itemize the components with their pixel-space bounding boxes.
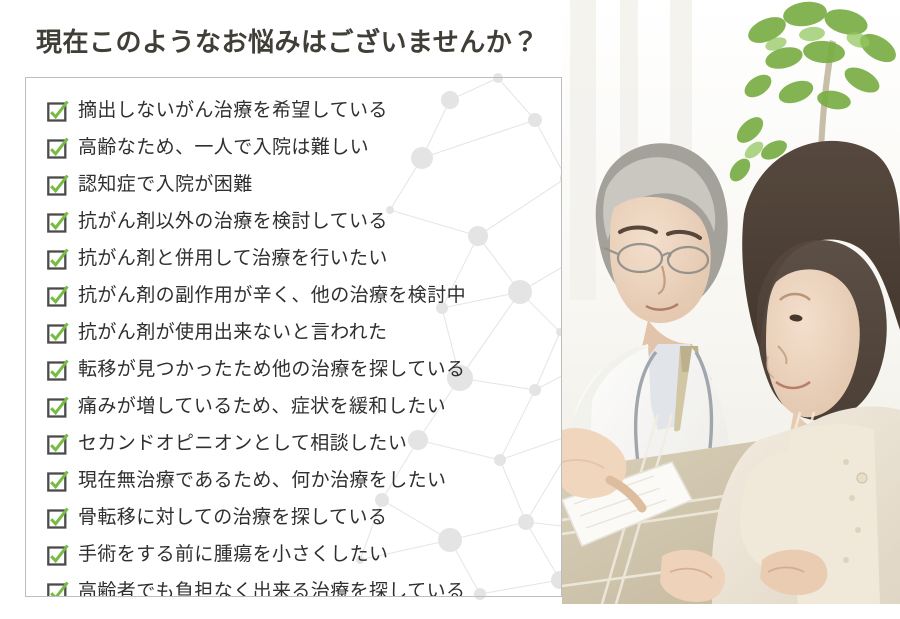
list-item-label: 認知症で入院が困難 — [78, 175, 253, 194]
checkbox-checked-icon — [47, 174, 69, 196]
checkbox-checked-icon — [47, 137, 69, 159]
list-item[interactable]: 認知症で入院が困難 — [26, 166, 561, 203]
list-item[interactable]: 高齢なため、一人で入院は難しい — [26, 129, 561, 166]
list-item-label: 手術をする前に腫瘍を小さくしたい — [78, 545, 388, 564]
list-item[interactable]: 転移が見つかったため他の治療を探している — [26, 351, 561, 388]
list-item[interactable]: 抗がん剤と併用して治療を行いたい — [26, 240, 561, 277]
checkbox-checked-icon — [47, 470, 69, 492]
checkbox-checked-icon — [47, 248, 69, 270]
list-item-label: 抗がん剤が使用出来ないと言われた — [78, 323, 387, 342]
list-item[interactable]: 現在無治療であるため、何か治療をしたい — [26, 462, 561, 499]
concerns-checklist-panel: 摘出しないがん治療を希望している 高齢なため、一人で入院は難しい 認知症で入院が… — [25, 77, 562, 597]
checkbox-checked-icon — [47, 396, 69, 418]
list-item-label: 高齢なため、一人で入院は難しい — [78, 138, 369, 157]
list-item-label: セカンドオピニオンとして相談したい — [78, 434, 407, 453]
promo-banner: 現在このようなお悩みはございませんか？ — [0, 0, 900, 614]
list-item[interactable]: 骨転移に対しての治療を探している — [26, 499, 561, 536]
list-item[interactable]: 抗がん剤以外の治療を検討している — [26, 203, 561, 240]
checkbox-checked-icon — [47, 359, 69, 381]
list-item-label: 抗がん剤と併用して治療を行いたい — [78, 249, 388, 268]
checkbox-checked-icon — [47, 285, 69, 307]
concerns-checklist: 摘出しないがん治療を希望している 高齢なため、一人で入院は難しい 認知症で入院が… — [26, 78, 561, 597]
list-item-label: 転移が見つかったため他の治療を探している — [78, 360, 465, 379]
list-item[interactable]: 手術をする前に腫瘍を小さくしたい — [26, 536, 561, 573]
list-item-label: 痛みが増しているため、症状を緩和したい — [78, 397, 446, 416]
list-item-label: 現在無治療であるため、何か治療をしたい — [78, 471, 446, 490]
list-item-label: 抗がん剤以外の治療を検討している — [78, 212, 388, 231]
checkbox-checked-icon — [47, 544, 69, 566]
checkbox-checked-icon — [47, 211, 69, 233]
list-item[interactable]: 抗がん剤の副作用が辛く、他の治療を検討中 — [26, 277, 561, 314]
list-item[interactable]: セカンドオピニオンとして相談したい — [26, 425, 561, 462]
list-item[interactable]: 摘出しないがん治療を希望している — [26, 92, 561, 129]
page-title: 現在このようなお悩みはございませんか？ — [36, 22, 539, 59]
list-item[interactable]: 抗がん剤が使用出来ないと言われた — [26, 314, 561, 351]
checkbox-checked-icon — [47, 507, 69, 529]
list-item-label: 骨転移に対しての治療を探している — [78, 508, 387, 527]
checkbox-checked-icon — [47, 100, 69, 122]
list-item-label: 摘出しないがん治療を希望している — [78, 101, 388, 120]
doctor-and-elderly-patient-photo — [562, 0, 900, 604]
list-item[interactable]: 痛みが増しているため、症状を緩和したい — [26, 388, 561, 425]
list-item[interactable]: 高齢者でも負担なく出来る治療を探している — [26, 573, 561, 597]
checkbox-checked-icon — [47, 322, 69, 344]
list-item-label: 抗がん剤の副作用が辛く、他の治療を検討中 — [78, 286, 466, 305]
list-item-label: 高齢者でも負担なく出来る治療を探している — [78, 582, 465, 597]
checkbox-checked-icon — [47, 581, 69, 598]
checkbox-checked-icon — [47, 433, 69, 455]
